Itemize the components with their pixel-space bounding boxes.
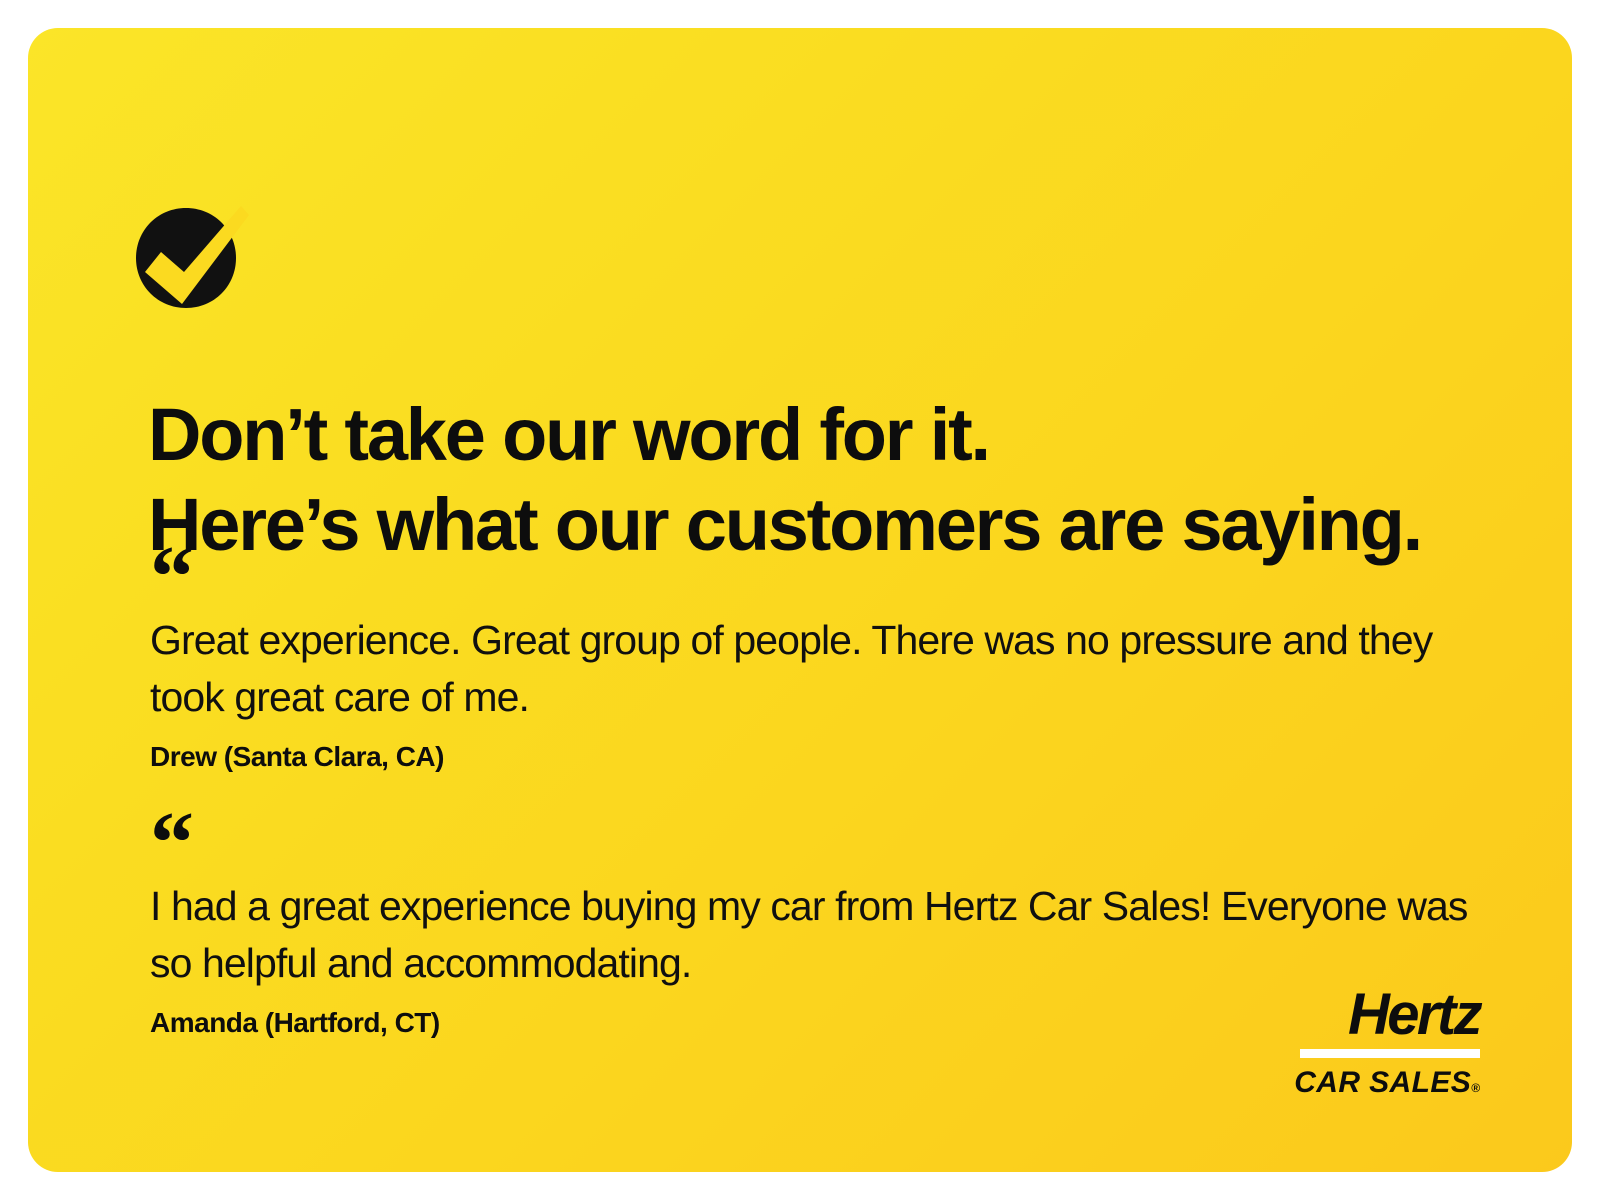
headline-line-1: Don’t take our word for it. <box>148 390 1488 480</box>
logo-subtitle: CAR SALES® <box>1294 1067 1480 1104</box>
page-title: Don’t take our word for it. Here’s what … <box>148 390 1488 570</box>
check-circle-icon <box>123 196 253 326</box>
quote-open-icon: “ <box>150 822 1510 856</box>
testimonial-item: “ Great experience. Great group of peopl… <box>150 556 1510 776</box>
testimonial-author: Drew (Santa Clara, CA) <box>150 738 1510 776</box>
hertz-car-sales-logo: Hertz CAR SALES® <box>1294 986 1480 1104</box>
logo-underline-rule <box>1300 1049 1480 1058</box>
testimonial-list: “ Great experience. Great group of peopl… <box>150 556 1510 1042</box>
testimonial-card: Don’t take our word for it. Here’s what … <box>28 28 1572 1172</box>
logo-subtitle-text: CAR SALES <box>1294 1066 1471 1099</box>
registered-trademark-icon: ® <box>1471 1081 1480 1095</box>
testimonial-text: I had a great experience buying my car f… <box>150 878 1470 992</box>
hertz-wordmark: Hertz <box>1294 986 1480 1044</box>
quote-open-icon: “ <box>150 556 1510 590</box>
testimonial-text: Great experience. Great group of people.… <box>150 612 1470 726</box>
